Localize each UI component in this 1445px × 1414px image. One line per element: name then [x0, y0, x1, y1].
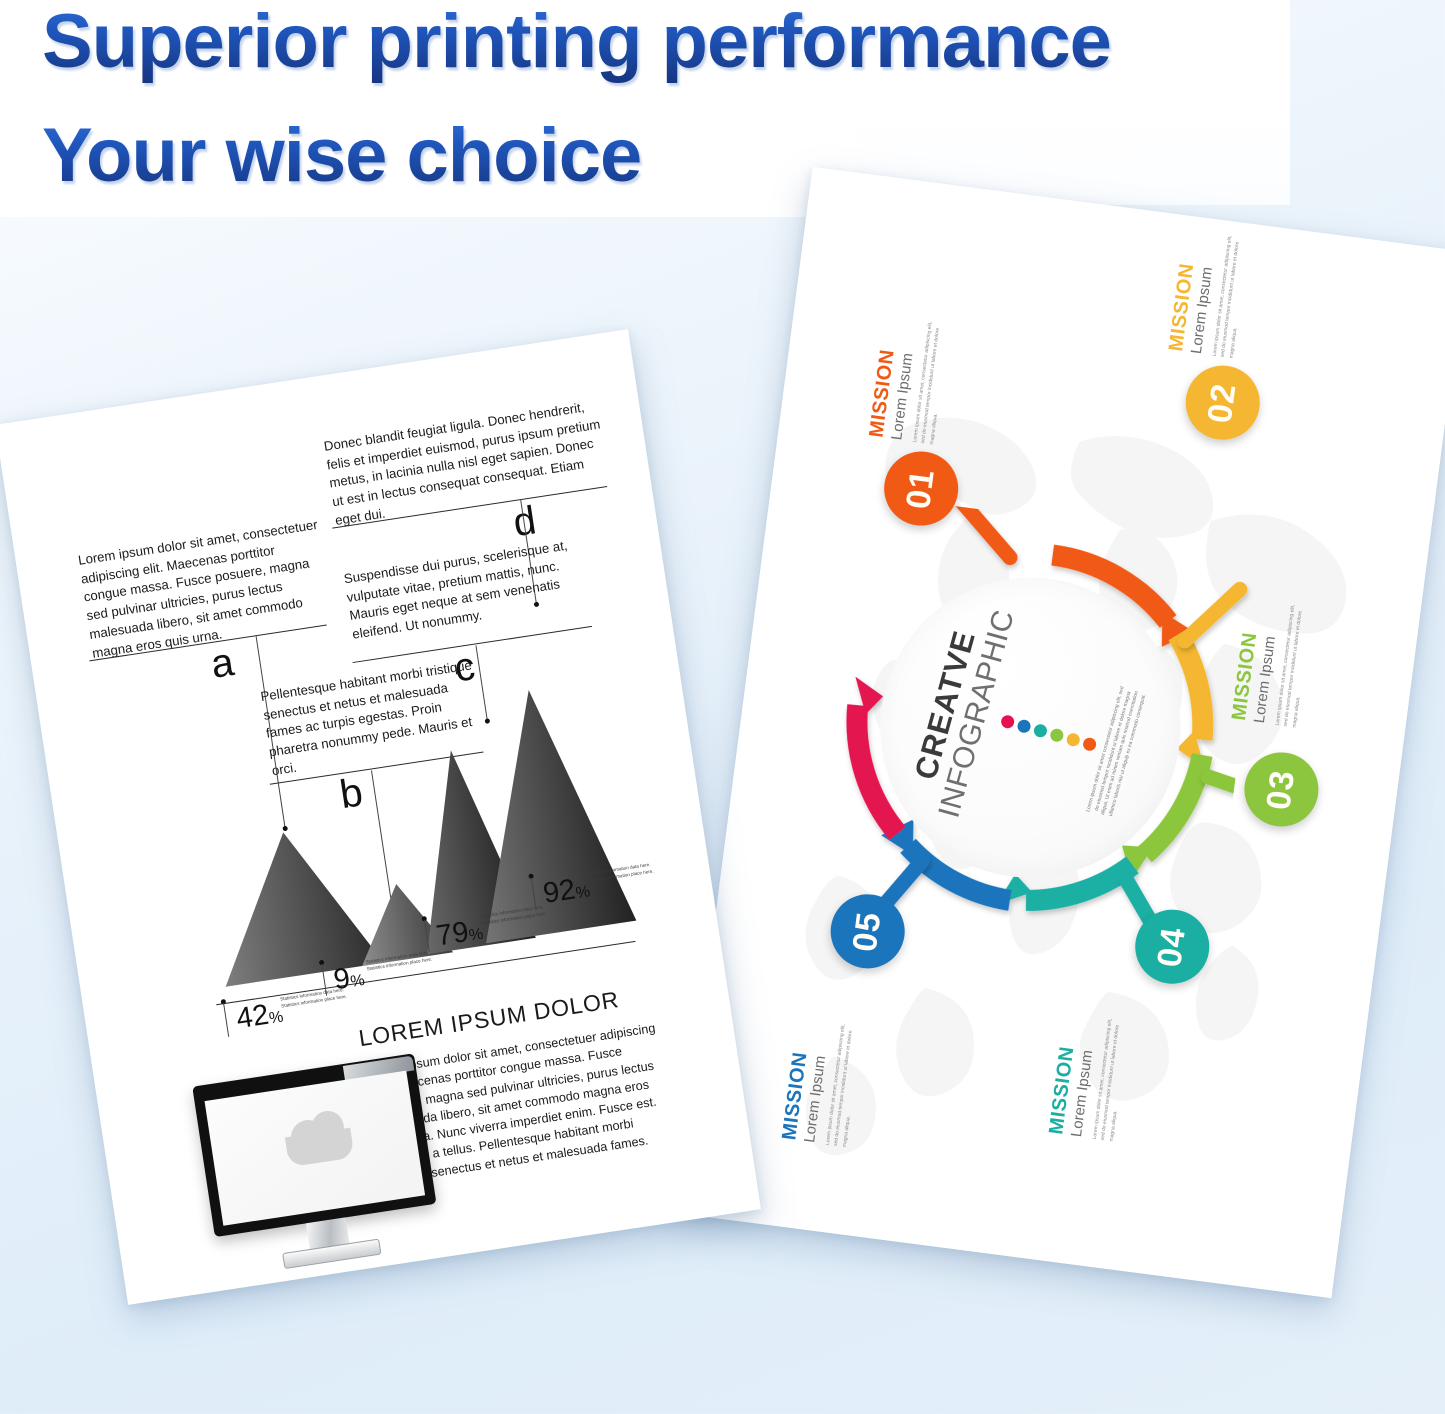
step-number-01: 01: [899, 466, 943, 511]
color-dot: [1065, 732, 1081, 748]
infographic-ring: CREATVE INFOGRAPHIC Lorem ipsum dolor si…: [795, 492, 1266, 963]
color-dot: [1032, 723, 1048, 739]
step-number-05: 05: [846, 909, 890, 954]
color-dot: [1016, 719, 1032, 735]
pct-value-9: 9%: [332, 962, 366, 995]
step-number-02: 02: [1201, 380, 1245, 425]
color-dot: [1081, 737, 1097, 753]
lorem-block-d: Donec blandit feugiat ligula. Donec hend…: [323, 396, 612, 530]
headline-line-2: Your wise choice: [42, 112, 641, 199]
pct-value-42: 42%: [235, 999, 285, 1035]
center-color-dots: [999, 714, 1097, 753]
step-number-04: 04: [1150, 924, 1194, 969]
pct-tick-42: [223, 1003, 229, 1037]
color-dot: [999, 714, 1015, 730]
triangle-chart: [175, 618, 640, 1007]
color-dot: [1048, 728, 1064, 744]
statistics-page: Lorem ipsum dolor sit amet, consectetuer…: [0, 329, 761, 1305]
infographic-page: CREATVE INFOGRAPHIC Lorem ipsum dolor si…: [677, 167, 1445, 1298]
lorem-block-a: Lorem ipsum dolor sit amet, consectetuer…: [77, 516, 333, 663]
step-number-03: 03: [1259, 767, 1303, 812]
product-image-canvas: Superior printing performance Your wise …: [0, 0, 1445, 1414]
headline-line-1: Superior printing performance: [42, 0, 1111, 85]
